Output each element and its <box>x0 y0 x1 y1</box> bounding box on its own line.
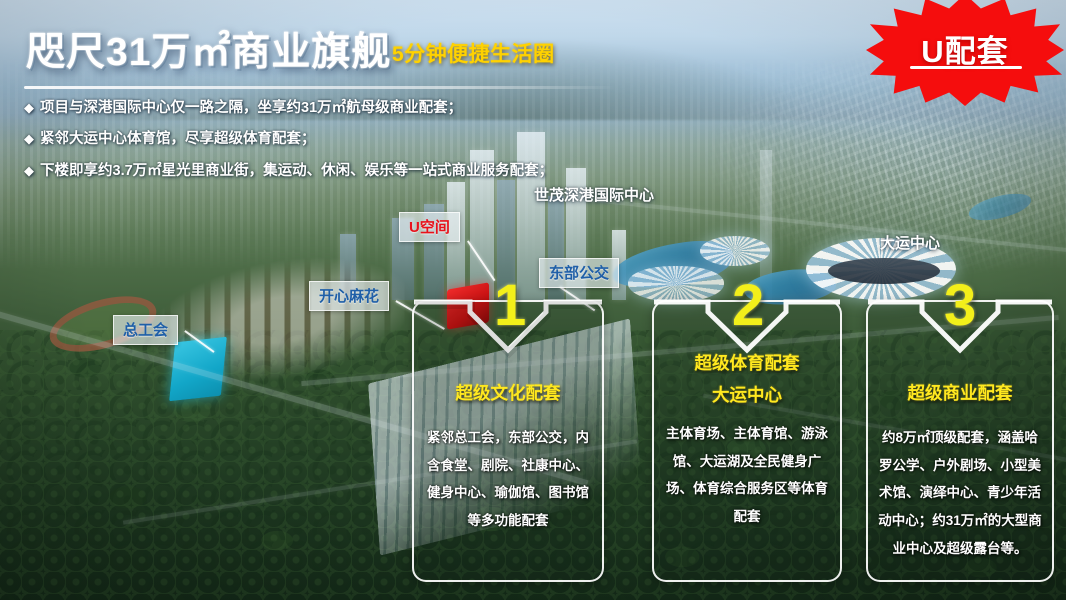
map-label-shimao-shengang: 世茂深港国际中心 <box>534 184 654 205</box>
diamond-icon: ◆ <box>24 131 34 147</box>
card-number-2: 2 <box>732 277 764 335</box>
card-title-2: 超级体育配套 <box>652 350 842 375</box>
bullet-item: ◆ 紧邻大运中心体育馆，尽享超级体育配套； <box>24 131 644 148</box>
page-title-tail: 商业旗舰 <box>231 31 391 74</box>
card-body-1: 紧邻总工会，东部公交，内含食堂、剧院、社康中心、健身中心、瑜伽馆、图书馆等多功能… <box>424 424 592 535</box>
diamond-icon: ◆ <box>24 100 34 116</box>
bullet-list: ◆ 项目与深港国际中心仅一路之隔，坐享约31万㎡航母级商业配套； ◆ 紧邻大运中… <box>24 100 644 194</box>
card-title-1: 超级文化配套 <box>412 380 604 405</box>
page-title-main: 咫尺31万 <box>26 31 191 74</box>
page-title: 咫尺31万㎡商业旗舰 <box>26 21 391 77</box>
bullet-item: ◆ 下楼即享约3.7万㎡星光里商业街，集运动、休闲、娱乐等一站式商业服务配套； <box>24 163 644 180</box>
page-subtitle: 5分钟便捷生活圈 <box>392 38 555 68</box>
poster-stage: 咫尺31万㎡商业旗舰 5分钟便捷生活圈 ◆ 项目与深港国际中心仅一路之隔，坐享约… <box>0 0 1066 600</box>
stadium-dome-medium <box>700 236 770 266</box>
stadium-roof <box>828 258 940 284</box>
card-subtitle-2: 大运中心 <box>652 382 842 407</box>
bullet-text: 下楼即享约3.7万㎡星光里商业街，集运动、休闲、娱乐等一站式商业服务配套； <box>40 163 553 180</box>
bullet-item: ◆ 项目与深港国际中心仅一路之隔，坐享约31万㎡航母级商业配套； <box>24 100 644 117</box>
map-label-dayun-center: 大运中心 <box>880 232 940 253</box>
card-number-3: 3 <box>944 277 976 335</box>
card-number-1: 1 <box>494 277 526 335</box>
starburst-badge-label: U配套 <box>866 26 1064 71</box>
card-body-2: 主体育场、主体育馆、游泳馆、大运湖及全民健身广场、体育综合服务区等体育配套 <box>662 420 832 531</box>
header-divider <box>24 86 616 89</box>
diamond-icon: ◆ <box>24 163 34 179</box>
map-label-u-space[interactable]: U空间 <box>399 212 460 242</box>
bullet-text: 紧邻大运中心体育馆，尽享超级体育配套； <box>40 131 316 148</box>
page-title-unit: ㎡ <box>191 31 231 74</box>
card-title-3: 超级商业配套 <box>866 380 1054 405</box>
card-body-3: 约8万㎡顶级配套，涵盖哈罗公学、户外剧场、小型美术馆、演绎中心、青少年活动中心；… <box>876 424 1044 562</box>
map-label-dongbu-gongjiao[interactable]: 东部公交 <box>539 258 619 288</box>
starburst-badge-underline <box>910 66 1022 69</box>
map-label-kaixinmahua[interactable]: 开心麻花 <box>309 281 389 311</box>
bullet-text: 项目与深港国际中心仅一路之隔，坐享约31万㎡航母级商业配套； <box>40 100 462 117</box>
map-label-zonggonghui[interactable]: 总工会 <box>113 315 178 345</box>
